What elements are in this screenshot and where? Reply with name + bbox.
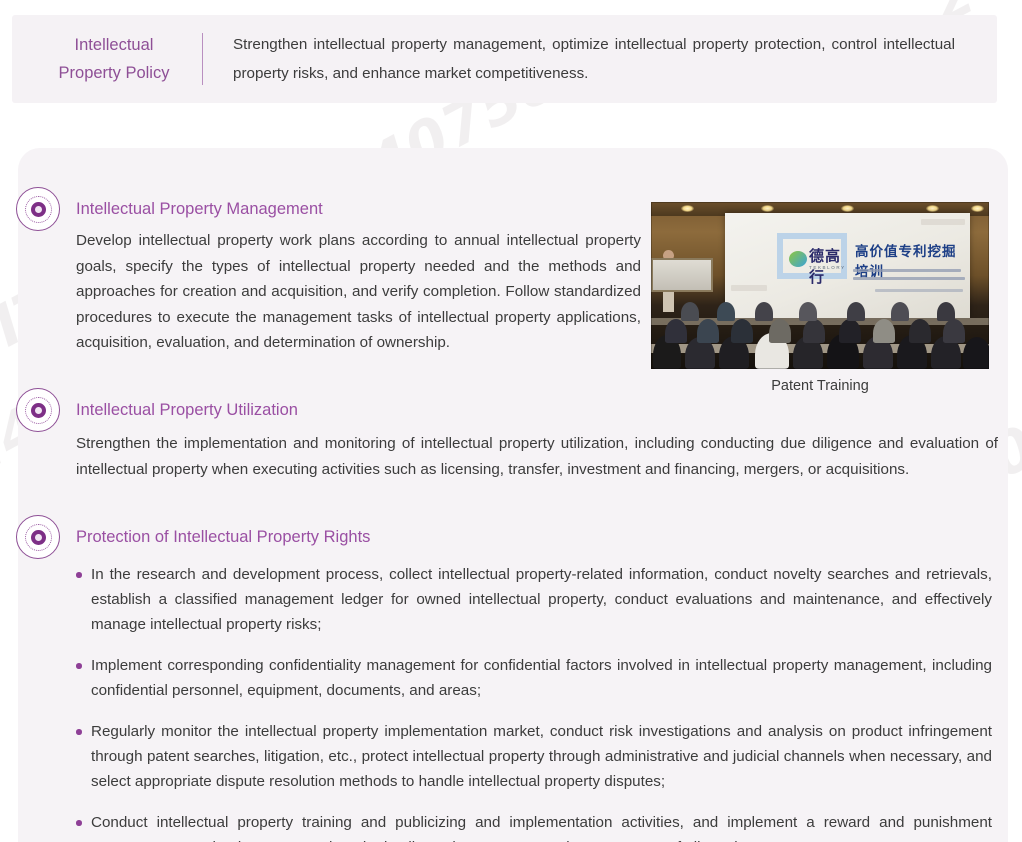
icon-dotted-ring [25, 397, 52, 424]
policy-label-line2: Property Policy [26, 59, 202, 87]
list-item-text: Regularly monitor the intellectual prope… [91, 723, 992, 790]
screen-text-line [875, 289, 963, 292]
ceiling-light-icon [971, 205, 984, 212]
section-title: Protection of Intellectual Property Righ… [60, 528, 370, 547]
audience-member [799, 302, 817, 321]
audience-group [651, 297, 989, 369]
section-title: Intellectual Property Management [60, 200, 323, 219]
audience-member [839, 319, 861, 343]
screen-corner-bar [921, 219, 965, 225]
protection-bullet-list: In the research and development process,… [76, 562, 992, 842]
list-item: In the research and development process,… [76, 562, 992, 637]
icon-dotted-ring [25, 196, 52, 223]
target-ring-icon [16, 515, 60, 559]
screen-corner-bar [731, 285, 767, 291]
audience-member [891, 302, 909, 321]
document-page: 2407580 ITH02 2407580 2407580 ITH0280080… [0, 0, 1022, 842]
bullet-dot-icon [76, 820, 82, 826]
ceiling-light-icon [926, 205, 939, 212]
policy-header-bar: Intellectual Property Policy Strengthen … [12, 15, 997, 103]
screen-logo-frame: 德高行 TEKBLORY [777, 233, 847, 279]
audience-member [697, 319, 719, 343]
icon-dotted-ring [25, 524, 52, 551]
audience-member [731, 319, 753, 343]
section-title: Intellectual Property Utilization [60, 401, 298, 420]
policy-label: Intellectual Property Policy [12, 31, 202, 87]
audience-member [937, 302, 955, 321]
audience-member [963, 337, 989, 369]
audience-member [909, 319, 931, 343]
policy-statement: Strengthen intellectual property managem… [203, 30, 997, 88]
list-item: Regularly monitor the intellectual prope… [76, 719, 992, 794]
audience-member [943, 319, 965, 343]
section-body-utilization: Strengthen the implementation and monito… [76, 431, 998, 482]
patent-training-figure: 德高行 TEKBLORY 高价值专利挖掘培训 [651, 202, 989, 394]
section-header-protection: Protection of Intellectual Property Righ… [16, 514, 370, 560]
section-header-utilization: Intellectual Property Utilization [16, 387, 298, 433]
audience-member [803, 319, 825, 343]
bullet-dot-icon [76, 663, 82, 669]
whiteboard [651, 258, 713, 292]
policy-label-line1: Intellectual [26, 31, 202, 59]
screen-logo-subtext: TEKBLORY [809, 265, 846, 270]
logo-orb-icon [789, 251, 807, 267]
audience-member [769, 319, 791, 343]
audience-member [873, 319, 895, 343]
screen-text-line [853, 269, 961, 272]
photo-caption: Patent Training [651, 378, 989, 394]
screen-text-line [853, 277, 965, 280]
audience-member [717, 302, 735, 321]
ceiling-light-icon [841, 205, 854, 212]
bullet-dot-icon [76, 729, 82, 735]
screen-title-text: 高价值专利挖掘培训 [855, 240, 970, 280]
section-body-management: Develop intellectual property work plans… [76, 228, 641, 356]
audience-member [681, 302, 699, 321]
target-ring-icon [16, 187, 60, 231]
patent-training-photo: 德高行 TEKBLORY 高价值专利挖掘培训 [651, 202, 989, 369]
list-item-text: Implement corresponding confidentiality … [91, 657, 992, 699]
ceiling-light-icon [681, 205, 694, 212]
bullet-dot-icon [76, 572, 82, 578]
ceiling-light-icon [761, 205, 774, 212]
audience-member [847, 302, 865, 321]
audience-member [755, 302, 773, 321]
list-item-text: In the research and development process,… [91, 566, 992, 633]
section-header-management: Intellectual Property Management [16, 186, 323, 232]
list-item-text: Conduct intellectual property training a… [91, 814, 992, 842]
list-item: Implement corresponding confidentiality … [76, 653, 992, 703]
target-ring-icon [16, 388, 60, 432]
audience-member [665, 319, 687, 343]
list-item: Conduct intellectual property training a… [76, 810, 992, 842]
